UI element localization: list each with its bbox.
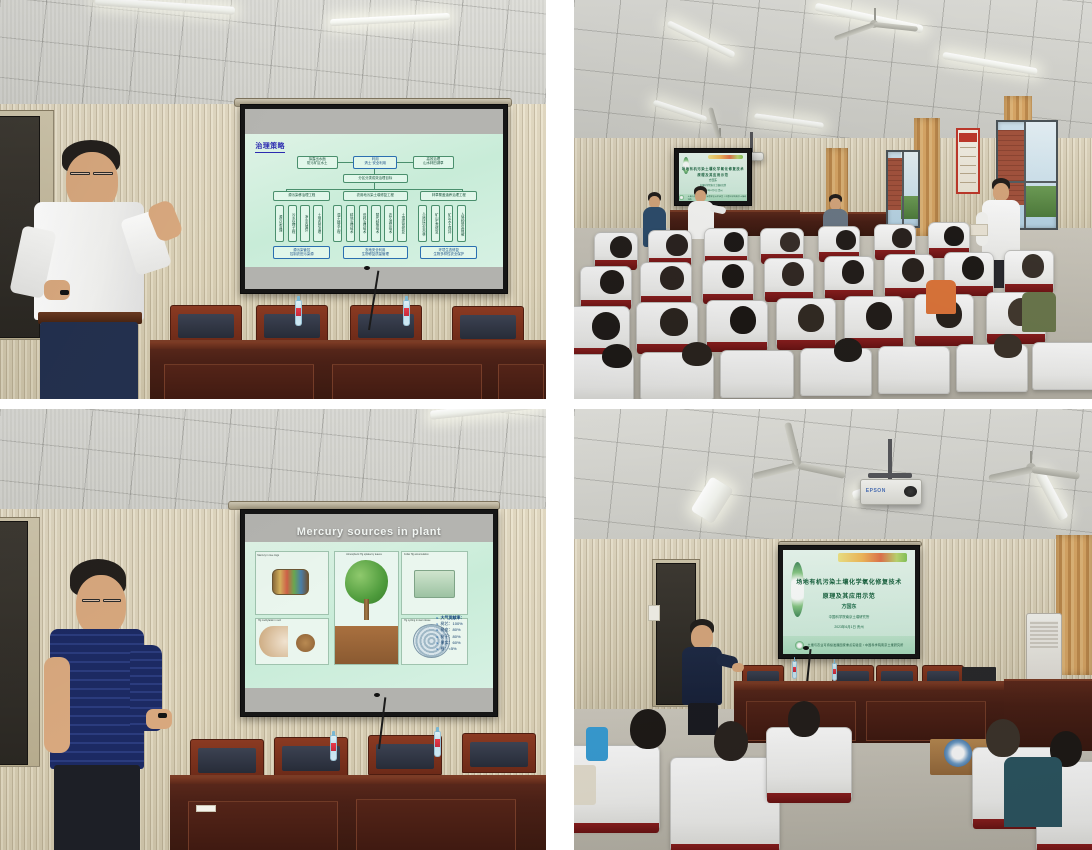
photo-vignette	[574, 409, 1092, 850]
photo-vignette	[574, 0, 1092, 399]
photo-collage: 治理策略 拟露出水面 防污矿区水土 利用 清土·安全利用 高效治理 山水林田湖草…	[0, 0, 1092, 850]
photo-vignette	[0, 0, 546, 399]
collage-photo-top-right: 场地有机污染土壤化学氧化修复技术 原理及其应用示范 方国东 中国科学院南京土壤研…	[574, 0, 1092, 399]
collage-photo-bottom-right: EPSON 场地有机污染土壤化学氧化修复技术 原理及其应用示范 方国	[574, 409, 1092, 850]
collage-photo-top-left: 治理策略 拟露出水面 防污矿区水土 利用 清土·安全利用 高效治理 山水林田湖草…	[0, 0, 546, 399]
photo-vignette	[0, 409, 546, 850]
collage-photo-bottom-left: Mercury sources in plant Mercury in tree…	[0, 409, 546, 850]
